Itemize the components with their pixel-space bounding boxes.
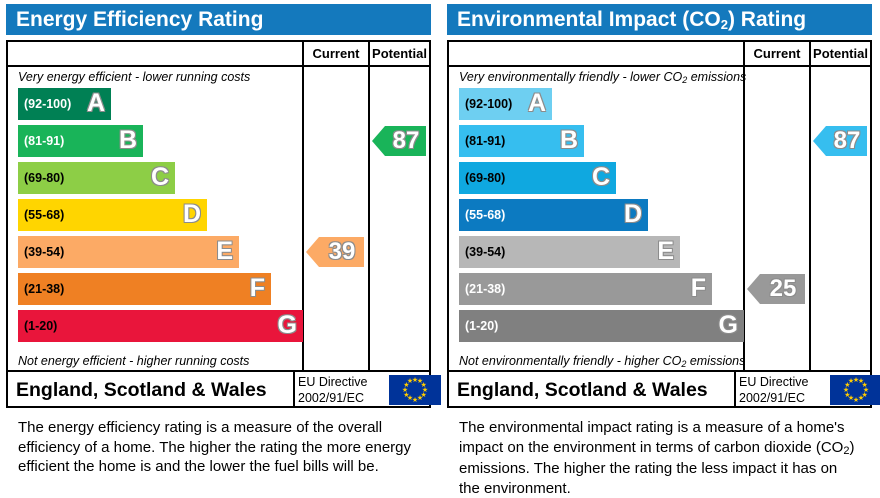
- band-letter-label: F: [250, 273, 265, 305]
- epc-chart-page: Energy Efficiency RatingCurrentPotential…: [0, 0, 880, 493]
- band-range-label: (39-54): [465, 236, 505, 268]
- eu-directive-line1: EU Directive: [298, 374, 386, 390]
- eu-directive-label: EU Directive2002/91/EC: [298, 374, 386, 406]
- caption-top: Very environmentally friendly - lower CO…: [449, 68, 743, 86]
- band-letter-label: C: [151, 162, 169, 194]
- band-range-label: (1-20): [465, 310, 498, 342]
- band-letter-label: F: [691, 273, 706, 305]
- energy-efficiency-panel: Energy Efficiency RatingCurrentPotential…: [0, 0, 437, 493]
- band-range-label: (55-68): [24, 199, 64, 231]
- band-range-label: (39-54): [24, 236, 64, 268]
- rating-band-g: (1-20)G: [18, 310, 303, 342]
- column-divider: [809, 67, 811, 370]
- current-column-header: Current: [743, 42, 809, 65]
- chart-footer: England, Scotland & WalesEU Directive200…: [8, 372, 429, 408]
- caption-bottom: Not environmentally friendly - higher CO…: [449, 352, 743, 370]
- eu-directive-line2: 2002/91/EC: [298, 390, 386, 406]
- rating-band-e: (39-54)E: [18, 236, 239, 268]
- band-letter-label: A: [87, 88, 105, 120]
- rating-chart-frame: CurrentPotentialVery environmentally fri…: [447, 40, 872, 408]
- band-range-label: (21-38): [24, 273, 64, 305]
- rating-band-a: (92-100)A: [18, 88, 111, 120]
- eu-directive-label: EU Directive2002/91/EC: [739, 374, 827, 406]
- band-range-label: (55-68): [465, 199, 505, 231]
- rating-band-g: (1-20)G: [459, 310, 744, 342]
- band-letter-label: G: [719, 310, 738, 342]
- band-letter-label: C: [592, 162, 610, 194]
- band-range-label: (81-91): [24, 125, 64, 157]
- column-header-row: CurrentPotential: [8, 42, 429, 67]
- band-letter-label: B: [119, 125, 137, 157]
- band-range-label: (92-100): [465, 88, 512, 120]
- chart-title: Energy Efficiency Rating: [6, 4, 431, 35]
- rating-band-d: (55-68)D: [459, 199, 648, 231]
- co2-subscript: 2: [721, 17, 728, 32]
- co2-subscript: 2: [681, 359, 686, 369]
- band-letter-label: E: [657, 236, 674, 268]
- chart-footer: England, Scotland & WalesEU Directive200…: [449, 372, 870, 408]
- rating-band-c: (69-80)C: [18, 162, 175, 194]
- footer-vertical-divider: [734, 372, 736, 408]
- band-letter-label: D: [183, 199, 201, 231]
- co2-subscript: 2: [843, 445, 849, 457]
- column-divider: [368, 67, 370, 370]
- potential-column-header: Potential: [809, 42, 870, 65]
- caption-bottom: Not energy efficient - higher running co…: [8, 352, 302, 370]
- rating-chart-frame: CurrentPotentialVery energy efficient - …: [6, 40, 431, 408]
- chart-description: The environmental impact rating is a mea…: [459, 418, 859, 498]
- band-range-label: (69-80): [465, 162, 505, 194]
- rating-band-b: (81-91)B: [459, 125, 584, 157]
- rating-band-e: (39-54)E: [459, 236, 680, 268]
- band-letter-label: G: [278, 310, 297, 342]
- current-rating-marker: 39: [306, 237, 364, 267]
- band-range-label: (69-80): [24, 162, 64, 194]
- chart-description: The energy efficiency rating is a measur…: [18, 418, 418, 477]
- rating-band-b: (81-91)B: [18, 125, 143, 157]
- potential-rating-marker: 87: [372, 126, 426, 156]
- current-column-header: Current: [302, 42, 368, 65]
- band-letter-label: D: [624, 199, 642, 231]
- eu-star-icon: ★: [407, 378, 414, 385]
- band-letter-label: A: [528, 88, 546, 120]
- footer-region-label: England, Scotland & Wales: [16, 372, 267, 408]
- rating-band-f: (21-38)F: [18, 273, 271, 305]
- eu-flag: ★★★★★★★★★★★★: [389, 375, 441, 405]
- band-range-label: (1-20): [24, 310, 57, 342]
- band-range-label: (81-91): [465, 125, 505, 157]
- rating-band-d: (55-68)D: [18, 199, 207, 231]
- environmental-impact-panel: Environmental Impact (CO2) RatingCurrent…: [441, 0, 878, 493]
- rating-band-f: (21-38)F: [459, 273, 712, 305]
- rating-band-c: (69-80)C: [459, 162, 616, 194]
- eu-star-icon: ★: [848, 378, 855, 385]
- chart-title: Environmental Impact (CO2) Rating: [447, 4, 872, 35]
- eu-directive-line2: 2002/91/EC: [739, 390, 827, 406]
- co2-subscript: 2: [682, 75, 687, 85]
- footer-vertical-divider: [293, 372, 295, 408]
- eu-flag: ★★★★★★★★★★★★: [830, 375, 880, 405]
- band-range-label: (21-38): [465, 273, 505, 305]
- footer-region-label: England, Scotland & Wales: [457, 372, 708, 408]
- potential-rating-marker: 87: [813, 126, 867, 156]
- caption-top: Very energy efficient - lower running co…: [8, 68, 302, 86]
- column-header-row: CurrentPotential: [449, 42, 870, 67]
- band-range-label: (92-100): [24, 88, 71, 120]
- eu-directive-line1: EU Directive: [739, 374, 827, 390]
- current-rating-marker: 25: [747, 274, 805, 304]
- band-letter-label: B: [560, 125, 578, 157]
- band-letter-label: E: [216, 236, 233, 268]
- rating-band-a: (92-100)A: [459, 88, 552, 120]
- potential-column-header: Potential: [368, 42, 429, 65]
